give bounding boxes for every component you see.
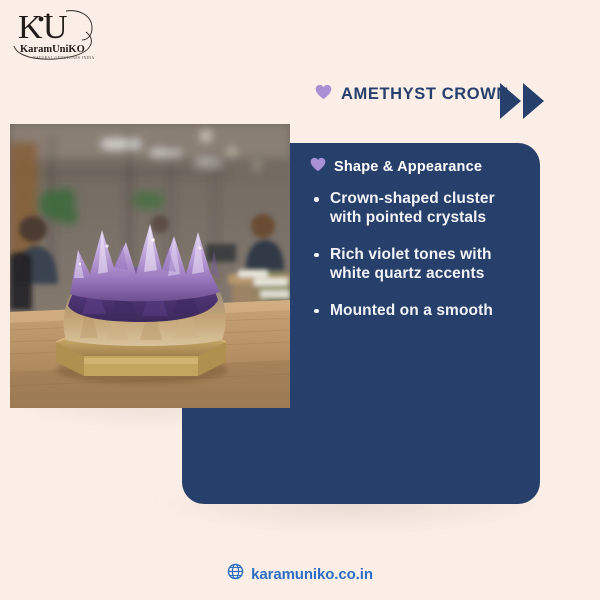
globe-icon <box>227 563 244 585</box>
brand-logo[interactable]: K U KaramUniKO NATURAL GEMSTONES INDIA <box>8 2 108 64</box>
logo-brand-name: KaramUniKO <box>20 44 85 55</box>
list-item: Mounted on a smooth <box>310 301 528 320</box>
card-header: Shape & Appearance <box>310 157 528 176</box>
website-url[interactable]: karamuniko.co.in <box>251 566 373 583</box>
footer: karamuniko.co.in <box>0 563 600 585</box>
header: AMETHYST CROWN <box>315 84 509 104</box>
heart-icon <box>315 84 332 104</box>
svg-text:K: K <box>18 9 43 46</box>
poster-canvas: K U KaramUniKO NATURAL GEMSTONES INDIA A… <box>0 0 600 600</box>
fast-forward-icon[interactable] <box>500 83 544 119</box>
forward-triangle-2 <box>523 83 544 119</box>
card-content: Shape & Appearance Crown-shaped cluster … <box>310 157 528 337</box>
page-title: AMETHYST CROWN <box>341 85 509 104</box>
heart-icon <box>310 157 326 176</box>
feature-list: Crown-shaped cluster with pointed crysta… <box>310 189 528 320</box>
ku-monogram-logo: K U KaramUniKO NATURAL GEMSTONES INDIA <box>8 2 108 64</box>
list-item: Crown-shaped cluster with pointed crysta… <box>310 189 528 228</box>
card-heading: Shape & Appearance <box>334 159 482 175</box>
list-item: Rich violet tones with white quartz acce… <box>310 245 528 284</box>
logo-tagline: NATURAL GEMSTONES INDIA <box>33 56 95 60</box>
forward-triangle-1 <box>500 83 521 119</box>
amethyst-crown-photo <box>10 124 290 408</box>
